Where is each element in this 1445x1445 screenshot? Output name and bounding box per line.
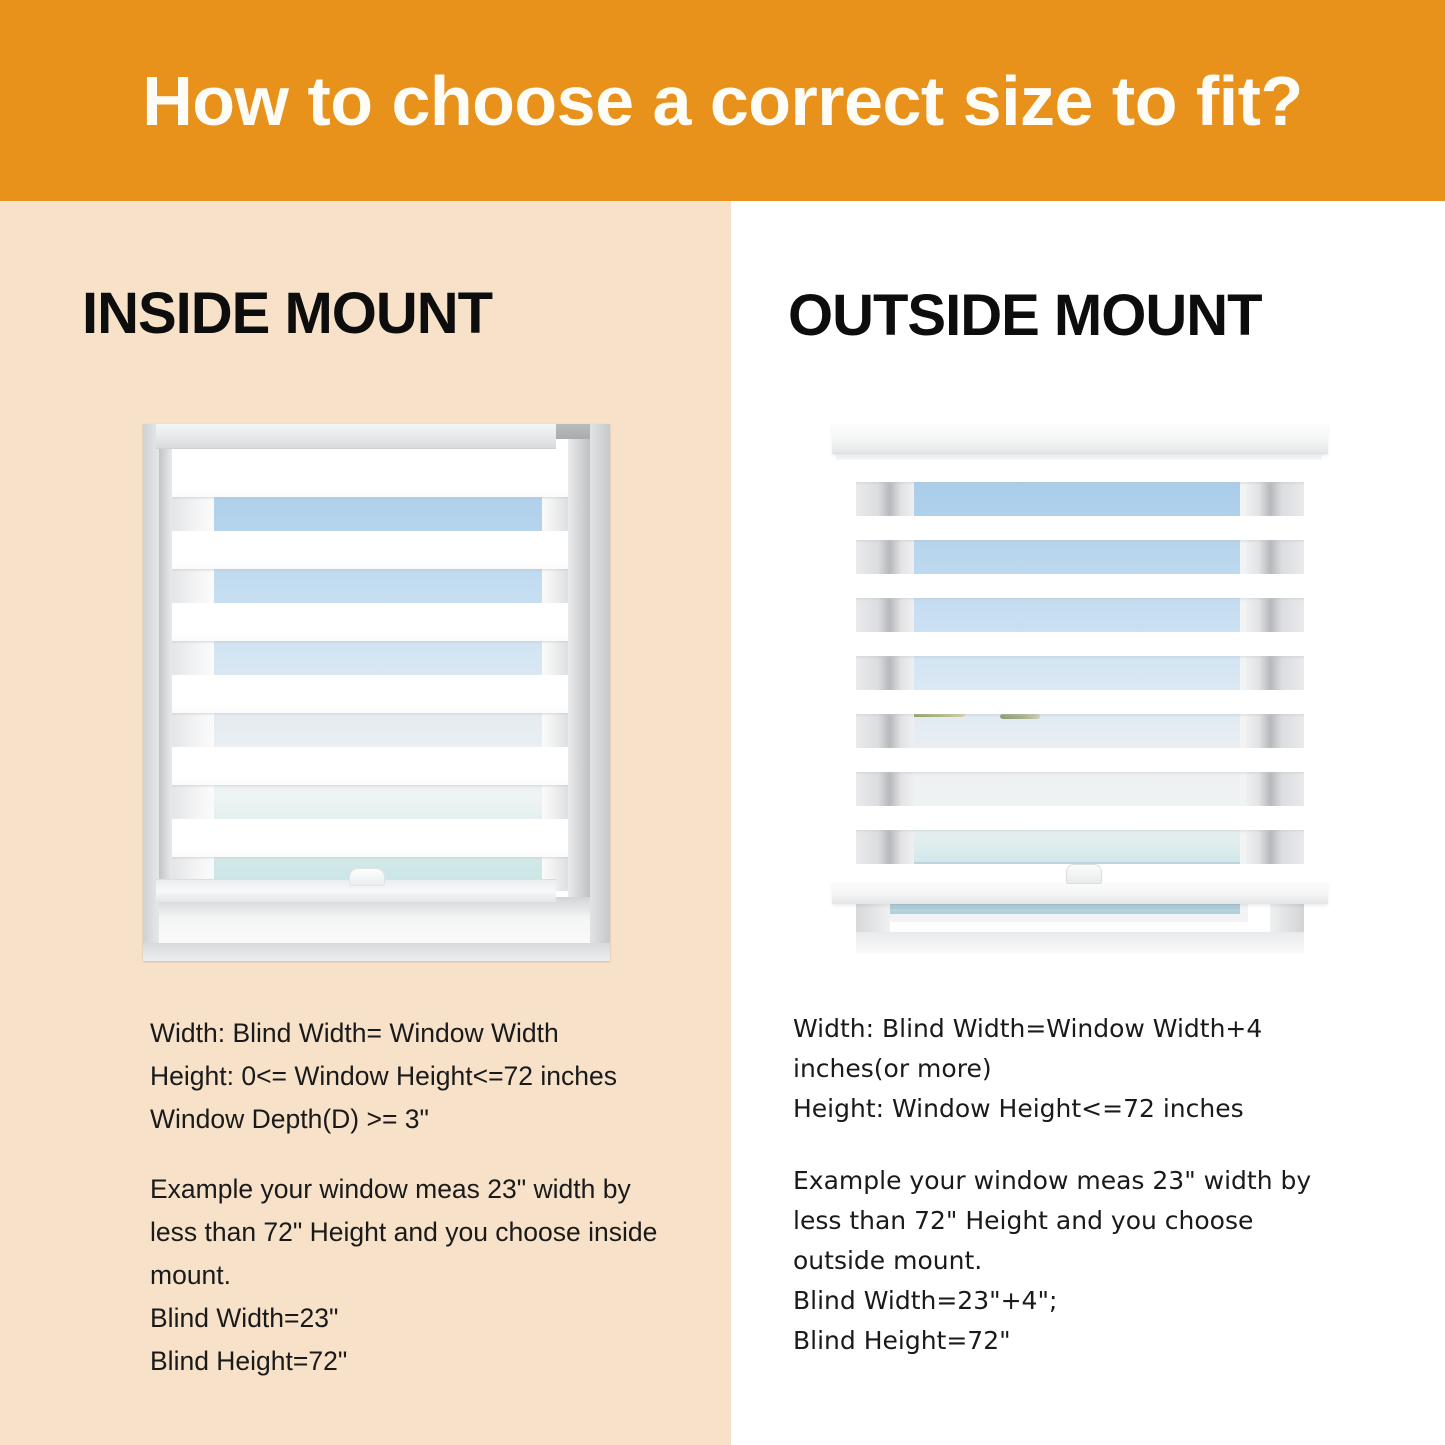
band-right-tab: [1246, 714, 1304, 748]
band-right-tab: [542, 785, 568, 819]
band-right-tab: [1246, 598, 1304, 632]
inside-spec-line: Window Depth(D) >= 3": [150, 1098, 710, 1141]
band-left-tab: [172, 713, 214, 747]
band-right-tab: [542, 713, 568, 747]
band-right-tab: [542, 569, 568, 603]
inside-example-line: Blind Width=23": [150, 1297, 710, 1340]
outside-example-line: Blind Width=23"+4";: [793, 1281, 1373, 1321]
outside-example-line: Example your window meas 23" width by: [793, 1161, 1373, 1201]
band-left-tab: [172, 497, 214, 531]
blind-headrail: [156, 424, 556, 449]
inside-mount-window-illustration: [143, 424, 610, 961]
blind-slat: [172, 531, 568, 569]
inside-example-line: mount.: [150, 1254, 710, 1297]
band-right-tab: [1246, 656, 1304, 690]
blind-pull-handle[interactable]: [349, 868, 385, 886]
band-right-tab: [1246, 830, 1304, 864]
band-left-tab: [172, 641, 214, 675]
reveal-left-jamb: [159, 439, 172, 943]
outside-spec-line: Height: Window Height<=72 inches: [793, 1089, 1373, 1129]
inside-mount-heading: INSIDE MOUNT: [82, 280, 492, 347]
blind-slat: [172, 603, 568, 641]
paragraph-spacer: [150, 1141, 710, 1168]
inside-example-line: Blind Height=72": [150, 1340, 710, 1383]
outside-example-line: outside mount.: [793, 1241, 1373, 1281]
blind-slat: [172, 463, 568, 497]
band-right-tab: [542, 497, 568, 531]
inside-spec-line: Width: Blind Width= Window Width: [150, 1012, 710, 1055]
outside-mount-copy: Width: Blind Width=Window Width+4 inches…: [793, 1009, 1373, 1361]
paragraph-spacer: [793, 1129, 1373, 1161]
infographic-page: How to choose a correct size to fit? INS…: [0, 0, 1445, 1445]
reveal-sill: [159, 897, 590, 943]
blind-headrail: [832, 424, 1328, 454]
inside-spec-line: Height: 0<= Window Height<=72 inches: [150, 1055, 710, 1098]
inside-example-line: Example your window meas 23" width by: [150, 1168, 710, 1211]
window-opening: [888, 482, 1240, 914]
island-shape-right: [1000, 710, 1040, 719]
blind-slat: [172, 819, 568, 857]
outside-mount-window-illustration: [830, 424, 1330, 954]
band-right-tab: [1246, 482, 1304, 516]
outside-spec-line: inches(or more): [793, 1049, 1373, 1089]
window-latch[interactable]: [1066, 864, 1102, 884]
band-right-tab: [1246, 772, 1304, 806]
band-right-tab: [542, 641, 568, 675]
blind-bottom-rail: [156, 879, 556, 902]
reveal-right-jamb: [568, 439, 590, 943]
inside-mount-copy: Width: Blind Width= Window Width Height:…: [150, 1012, 710, 1383]
band-left-tab: [172, 785, 214, 819]
window-sill: [832, 882, 1328, 904]
outside-example-line: less than 72" Height and you choose: [793, 1201, 1373, 1241]
island-shape-left: [894, 704, 966, 717]
window-frame-bottom: [143, 943, 610, 961]
outside-spec-line: Width: Blind Width=Window Width+4: [793, 1009, 1373, 1049]
zebra-blind-inside: [172, 463, 568, 894]
blind-slat: [172, 675, 568, 713]
blind-slat: [856, 460, 1304, 482]
outside-example-line: Blind Height=72": [793, 1321, 1373, 1361]
page-title: How to choose a correct size to fit?: [0, 0, 1445, 201]
inside-example-line: less than 72" Height and you choose insi…: [150, 1211, 710, 1254]
window-apron-bottom: [856, 932, 1304, 954]
outside-mount-heading: OUTSIDE MOUNT: [788, 282, 1262, 349]
window-frame-right: [590, 424, 610, 961]
band-right-tab: [1246, 540, 1304, 574]
header-banner: How to choose a correct size to fit?: [0, 0, 1445, 201]
blind-headrail-lip: [836, 454, 1322, 460]
band-left-tab: [172, 569, 214, 603]
blind-slat: [172, 747, 568, 785]
